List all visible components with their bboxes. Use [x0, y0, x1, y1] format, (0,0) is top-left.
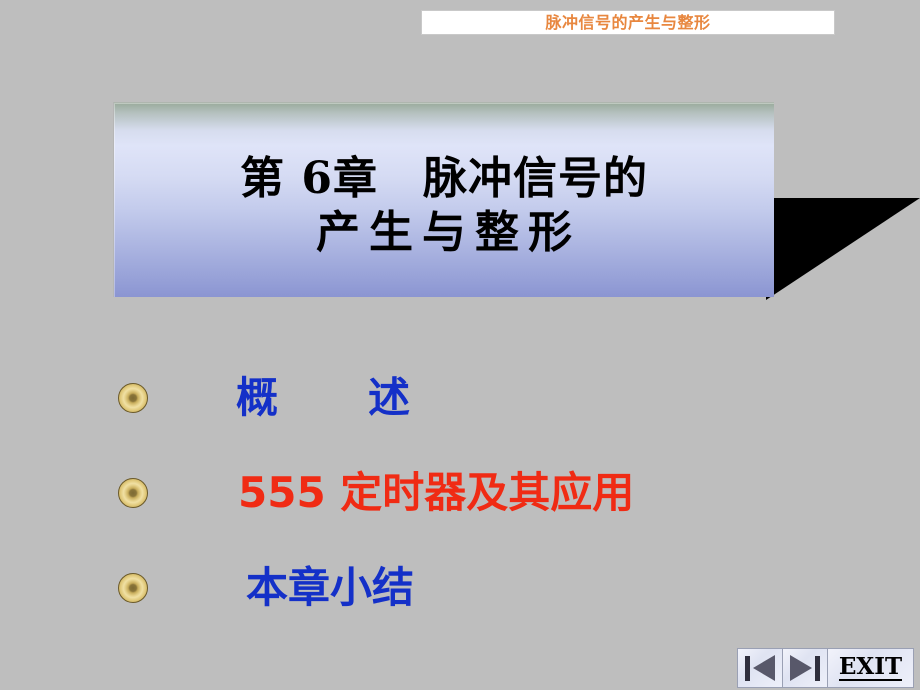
gold-disc-icon	[118, 478, 148, 508]
agenda-item-555-timer[interactable]: 555 定时器及其应用	[118, 445, 818, 540]
previous-slide-button[interactable]	[738, 649, 783, 687]
nav-bar-stub	[745, 656, 750, 681]
triangle-right-icon	[790, 655, 812, 681]
gold-disc-icon	[118, 573, 148, 603]
agenda-item-label: 555 定时器及其应用	[238, 472, 634, 514]
chapter-title-plate: 第 6章 脉冲信号的 产生与整形	[113, 102, 774, 297]
agenda-item-overview[interactable]: 概 述	[118, 350, 818, 445]
triangle-left-icon	[753, 655, 775, 681]
gold-disc-icon	[118, 383, 148, 413]
presentation-slide: 脉冲信号的产生与整形 第 6章 脉冲信号的 产生与整形 概 述 555 定时器及…	[0, 0, 920, 690]
next-slide-button[interactable]	[783, 649, 828, 687]
slide-header-banner: 脉冲信号的产生与整形	[421, 10, 835, 35]
next-slide-icon	[790, 655, 820, 681]
chapter-title-line-2: 产生与整形	[307, 206, 581, 260]
nav-bar-stub	[815, 656, 820, 681]
agenda-item-label: 概 述	[236, 377, 412, 419]
slide-header-title: 脉冲信号的产生与整形	[545, 15, 710, 31]
decorative-black-wedge	[766, 198, 920, 300]
exit-button[interactable]: EXIT	[828, 649, 913, 687]
agenda-list: 概 述 555 定时器及其应用 本章小结	[118, 350, 818, 635]
slide-navigation-bar: EXIT	[737, 648, 914, 688]
exit-button-label: EXIT	[839, 655, 902, 681]
agenda-item-label: 本章小结	[246, 567, 414, 609]
agenda-item-chapter-summary[interactable]: 本章小结	[118, 540, 818, 635]
chapter-title-line-1: 第 6章 脉冲信号的	[240, 152, 648, 206]
previous-slide-icon	[745, 655, 775, 681]
